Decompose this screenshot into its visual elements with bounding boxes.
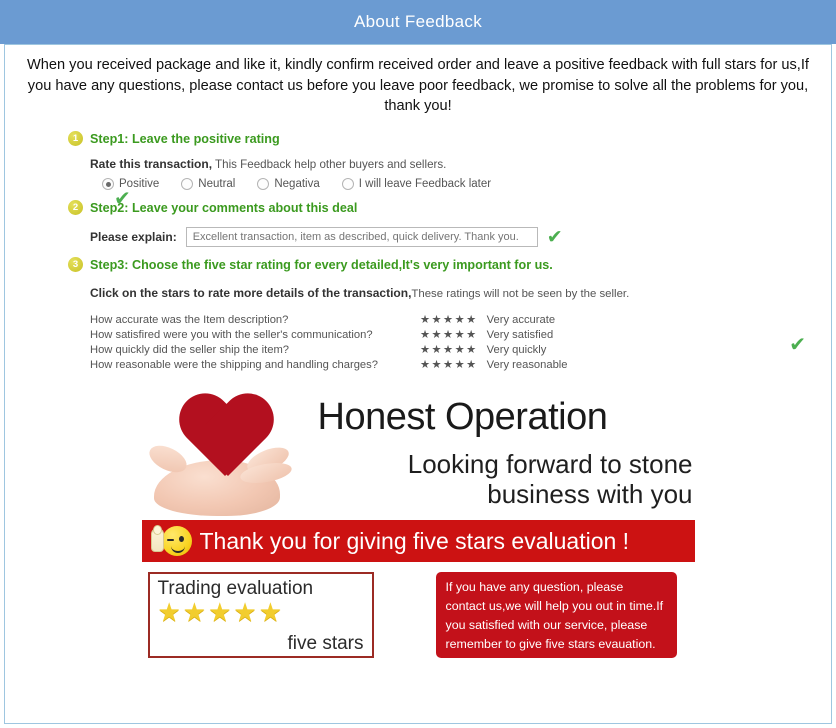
ratings-check-icon: ✔ (789, 332, 806, 356)
thanks-text: Thank you for giving five stars evaluati… (200, 528, 630, 555)
heart-icon (176, 396, 274, 486)
table-row[interactable]: How satisfired were you with the seller'… (90, 327, 568, 342)
honest-operation-banner: Honest Operation Looking forward to ston… (142, 388, 695, 518)
rating-question-1: How accurate was the Item description? (90, 312, 420, 327)
table-row[interactable]: How quickly did the seller ship the item… (90, 342, 568, 357)
smiley-wink-icon (167, 539, 174, 541)
ratings-wrapper: How accurate was the Item description? ★… (90, 312, 768, 372)
intro-text: When you received package and like it, k… (5, 45, 831, 121)
radio-negative-input[interactable] (257, 178, 269, 190)
radio-option-negative[interactable]: Negativa (257, 178, 319, 190)
radio-positive-input[interactable] (102, 178, 114, 190)
explain-row: Please explain: ✔ (90, 227, 768, 247)
smiley-eye-icon (179, 536, 184, 542)
radio-later-label: I will leave Feedback later (359, 178, 491, 190)
radio-option-positive[interactable]: Positive ✔ (102, 178, 159, 190)
rating-label-1: Very accurate (487, 312, 568, 327)
rate-note-rest: These ratings will not be seen by the se… (411, 288, 629, 300)
table-row[interactable]: How reasonable were the shipping and han… (90, 357, 568, 372)
rating-question-3: How quickly did the seller ship the item… (90, 342, 420, 357)
thanks-banner: Thank you for giving five stars evaluati… (142, 520, 695, 562)
explain-label: Please explain: (90, 230, 177, 244)
radio-negative-label: Negativa (274, 178, 319, 190)
honest-subtitle: Looking forward to stone business with y… (318, 450, 693, 509)
rating-stars-1[interactable]: ★★★★★ (420, 312, 487, 327)
smiley-mouth-icon (171, 543, 185, 553)
rating-stars-3[interactable]: ★★★★★ (420, 342, 487, 357)
rate-note: Click on the stars to rate more details … (90, 286, 768, 300)
table-row[interactable]: How accurate was the Item description? ★… (90, 312, 568, 327)
rating-radio-group: Positive ✔ Neutral Negativa I will leave… (102, 178, 768, 190)
positive-check-icon: ✔ (114, 188, 131, 208)
rating-question-2: How satisfired were you with the seller'… (90, 327, 420, 342)
radio-later-input[interactable] (342, 178, 354, 190)
explain-check-icon: ✔ (547, 228, 563, 247)
thumbs-up-smiley-icon (150, 524, 192, 558)
header-bar: About Feedback (0, 0, 836, 44)
rating-label-3: Very quickly (487, 342, 568, 357)
trading-evaluation-stars: ★★★★★ (158, 598, 364, 628)
step-3-badge: 3 (68, 257, 83, 272)
step-1-title: Step1: Leave the positive rating (90, 132, 280, 146)
step-3-heading: 3 Step3: Choose the five star rating for… (68, 257, 768, 272)
rate-note-bold: Click on the stars to rate more details … (90, 286, 411, 300)
step-2-heading: 2 Step2: Leave your comments about this … (68, 200, 768, 215)
page-title: About Feedback (354, 12, 482, 32)
step-1-body: Rate this transaction, This Feedback hel… (90, 157, 768, 190)
smiley-face-icon (162, 526, 192, 556)
step-1-heading: 1 Step1: Leave the positive rating (68, 131, 768, 146)
ratings-table: How accurate was the Item description? ★… (90, 312, 568, 372)
rating-stars-4[interactable]: ★★★★★ (420, 357, 487, 372)
radio-option-later[interactable]: I will leave Feedback later (342, 178, 491, 190)
steps-container: 1 Step1: Leave the positive rating Rate … (68, 131, 768, 372)
rate-transaction-lead: Rate this transaction, This Feedback hel… (90, 157, 768, 171)
promo-banner: Honest Operation Looking forward to ston… (142, 388, 695, 658)
rating-label-4: Very reasonable (487, 357, 568, 372)
step-1-badge: 1 (68, 131, 83, 146)
trading-evaluation-title: Trading evaluation (158, 578, 364, 600)
rate-transaction-rest: This Feedback help other buyers and sell… (212, 158, 446, 171)
rating-stars-2[interactable]: ★★★★★ (420, 327, 487, 342)
thumb-icon (151, 528, 164, 552)
step-2-badge: 2 (68, 200, 83, 215)
honest-title: Honest Operation (318, 396, 608, 439)
step-3-title: Step3: Choose the five star rating for e… (90, 258, 553, 272)
content-frame: When you received package and like it, k… (4, 44, 832, 724)
radio-neutral-label: Neutral (198, 178, 235, 190)
contact-note-box: If you have any question, please contact… (436, 572, 677, 658)
rating-label-2: Very satisfied (487, 327, 568, 342)
step-3-body: Click on the stars to rate more details … (90, 286, 768, 372)
trading-evaluation-box: Trading evaluation ★★★★★ five stars (148, 572, 374, 658)
rate-transaction-bold: Rate this transaction, (90, 157, 212, 171)
promo-bottom-row: Trading evaluation ★★★★★ five stars If y… (142, 572, 695, 658)
radio-option-neutral[interactable]: Neutral (181, 178, 235, 190)
rating-question-4: How reasonable were the shipping and han… (90, 357, 420, 372)
step-2-body: Please explain: ✔ (90, 227, 768, 247)
feedback-page: About Feedback When you received package… (0, 0, 836, 728)
trading-evaluation-subtitle: five stars (287, 633, 363, 655)
radio-neutral-input[interactable] (181, 178, 193, 190)
explain-input[interactable] (186, 227, 538, 247)
